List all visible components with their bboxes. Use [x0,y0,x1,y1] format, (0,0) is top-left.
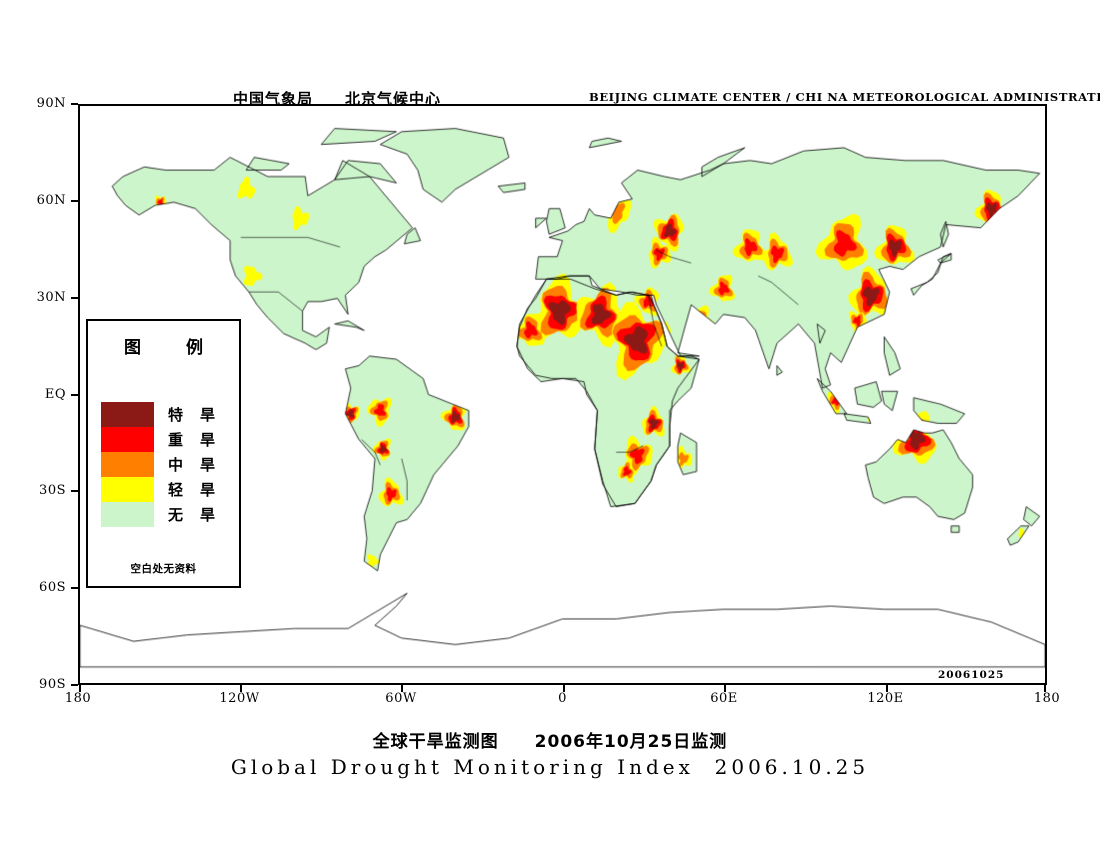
y-axis-tick-mark [71,200,78,202]
x-axis-tick-mark [1044,685,1046,692]
legend-swatch-light [101,477,154,502]
y-axis-tick-label: 30S [20,483,66,498]
y-axis-tick-mark [71,490,78,492]
legend-entries: 特 旱重 旱中 旱轻 旱无 旱 [101,402,231,527]
legend-label-extreme: 特 旱 [168,404,216,425]
y-axis-tick-label: 30N [20,290,66,305]
legend-swatch-moderate [101,452,154,477]
y-axis-tick-label: 60N [20,193,66,208]
map-title-chinese: 全球干旱监测图 2006年10月25日监测 [0,727,1100,752]
legend-nodata-note: 空白处无资料 [88,561,239,576]
y-axis-tick-label: 60S [20,580,66,595]
x-axis-tick-mark [240,685,242,692]
y-axis-tick-label: 90N [20,96,66,111]
legend-swatch-none [101,502,154,527]
x-axis-tick-label: 60W [371,691,431,706]
y-axis-tick-mark [71,103,78,105]
legend-label-light: 轻 旱 [168,479,216,500]
x-axis-tick-label: 120W [210,691,270,706]
x-axis-tick-mark [886,685,888,692]
y-axis-tick-mark [71,684,78,686]
x-axis-tick-label: 120E [856,691,916,706]
agency-header-english: BEIJING CLIMATE CENTER / CHI NA METEOROL… [589,90,1100,104]
x-axis-tick-label: 180 [48,691,108,706]
x-axis-tick-mark [563,685,565,692]
x-axis-tick-label: 180 [1017,691,1077,706]
legend-label-moderate: 中 旱 [168,454,216,475]
y-axis-tick-mark [71,297,78,299]
x-axis-tick-label: 60E [694,691,754,706]
y-axis-tick-mark [71,394,78,396]
legend-label-severe: 重 旱 [168,429,216,450]
x-axis-tick-mark [724,685,726,692]
legend-entry-none: 无 旱 [101,502,231,527]
legend-entry-light: 轻 旱 [101,477,231,502]
x-axis-tick-mark [79,685,81,692]
y-axis-tick-label: EQ [20,387,66,402]
date-stamp: 20061025 [938,669,1004,681]
y-axis-tick-label: 90S [20,677,66,692]
legend-swatch-severe [101,427,154,452]
legend-title: 图 例 [88,333,239,358]
map-title-english: Global Drought Monitoring Index 2006.10.… [0,755,1100,779]
y-axis-tick-mark [71,587,78,589]
x-axis-tick-label: 0 [533,691,593,706]
legend-label-none: 无 旱 [168,504,216,525]
legend-box: 图 例 特 旱重 旱中 旱轻 旱无 旱 空白处无资料 [86,319,241,588]
legend-entry-extreme: 特 旱 [101,402,231,427]
legend-entry-moderate: 中 旱 [101,452,231,477]
legend-entry-severe: 重 旱 [101,427,231,452]
x-axis-tick-mark [401,685,403,692]
legend-swatch-extreme [101,402,154,427]
